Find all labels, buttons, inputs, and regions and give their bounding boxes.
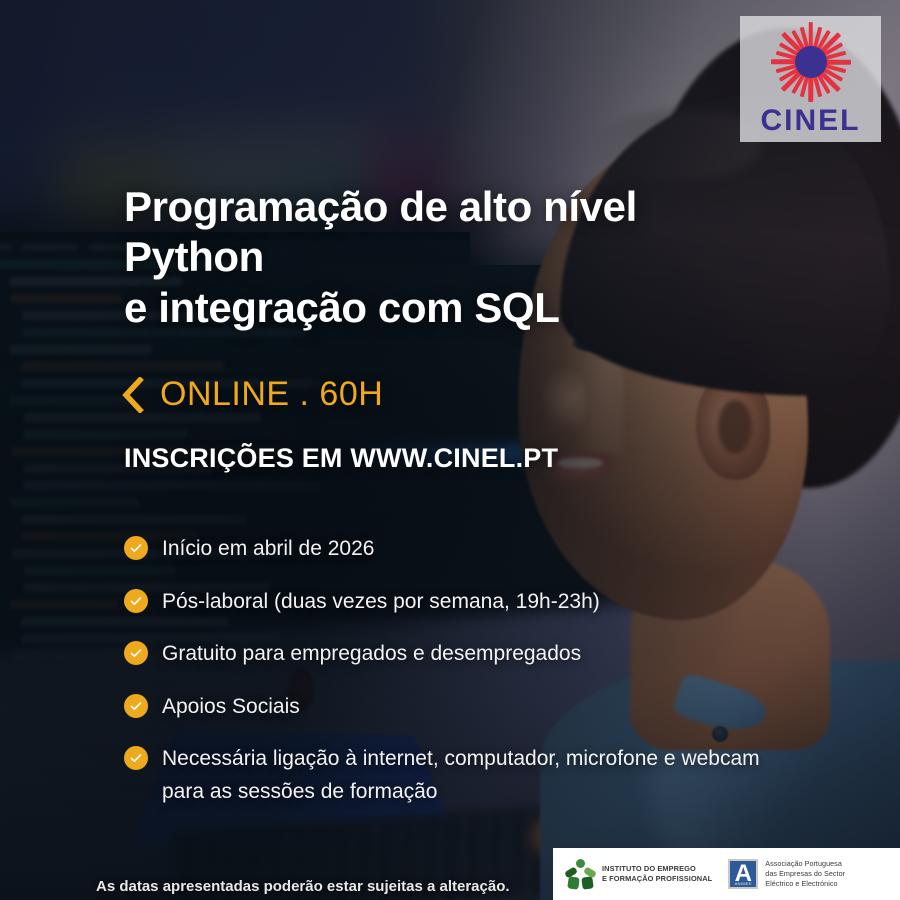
list-item-label: Pós-laboral (duas vezes por semana, 19h-… — [162, 586, 600, 619]
iefp-partner[interactable]: INSTITUTO DO EMPREGO E FORMAÇÃO PROFISSI… — [565, 859, 712, 889]
feature-list: Início em abril de 2026 Pós-laboral (dua… — [124, 533, 784, 828]
animee-name: Associação Portuguesa das Empresas do Se… — [765, 859, 845, 890]
iefp-logo — [565, 859, 595, 889]
poster-content: CINEL Programação de alto nível Python e… — [0, 0, 900, 900]
modality-label: ONLINE . 60H — [160, 375, 383, 414]
promo-poster: CINEL Programação de alto nível Python e… — [0, 0, 900, 900]
animee-name-line-2: das Empresas do Sector — [765, 869, 845, 879]
list-item-label: Necessária ligação à internet, computado… — [162, 743, 774, 808]
cinel-wordmark: CINEL — [761, 106, 861, 136]
list-item: Início em abril de 2026 — [124, 533, 784, 566]
iefp-name-line-1: INSTITUTO DO EMPREGO — [602, 864, 712, 874]
list-item-label: Gratuito para empregados e desempregados — [162, 638, 581, 671]
cinel-sunburst-logo — [769, 23, 853, 101]
disclaimer-text: As datas apresentadas poderão estar suje… — [96, 878, 510, 895]
check-circle-icon — [124, 694, 148, 718]
check-circle-icon — [124, 641, 148, 665]
check-circle-icon — [124, 746, 148, 770]
animee-logo: A ANIMEE — [728, 859, 758, 889]
registration-label: INSCRIÇÕES EM WWW.CINEL.PT — [124, 443, 558, 474]
check-circle-icon — [124, 589, 148, 613]
headline-line-3: e integração com SQL — [124, 283, 764, 333]
headline-line-2: Python — [124, 232, 764, 282]
headline-line-1: Programação de alto nível — [124, 182, 764, 232]
animee-logo-caption: ANIMEE — [730, 881, 756, 886]
cinel-logo-badge[interactable]: CINEL — [740, 16, 881, 142]
animee-partner[interactable]: A ANIMEE Associação Portuguesa das Empre… — [728, 859, 845, 890]
check-circle-icon — [124, 536, 148, 560]
list-item-label: Início em abril de 2026 — [162, 533, 374, 566]
modality-row: ONLINE . 60H — [122, 375, 383, 414]
list-item: Apoios Sociais — [124, 691, 784, 724]
iefp-name-line-2: E FORMAÇÃO PROFISSIONAL — [602, 874, 712, 884]
list-item: Necessária ligação à internet, computado… — [124, 743, 784, 808]
list-item: Gratuito para empregados e desempregados — [124, 638, 784, 671]
iefp-name: INSTITUTO DO EMPREGO E FORMAÇÃO PROFISSI… — [602, 864, 712, 884]
list-item-label: Apoios Sociais — [162, 691, 300, 724]
page-title: Programação de alto nível Python e integ… — [124, 182, 764, 333]
animee-name-line-1: Associação Portuguesa — [765, 859, 845, 869]
chevron-left-icon — [122, 377, 144, 413]
list-item: Pós-laboral (duas vezes por semana, 19h-… — [124, 586, 784, 619]
animee-name-line-3: Eléctrico e Electrónico — [765, 879, 845, 889]
partner-footer: INSTITUTO DO EMPREGO E FORMAÇÃO PROFISSI… — [553, 848, 900, 900]
